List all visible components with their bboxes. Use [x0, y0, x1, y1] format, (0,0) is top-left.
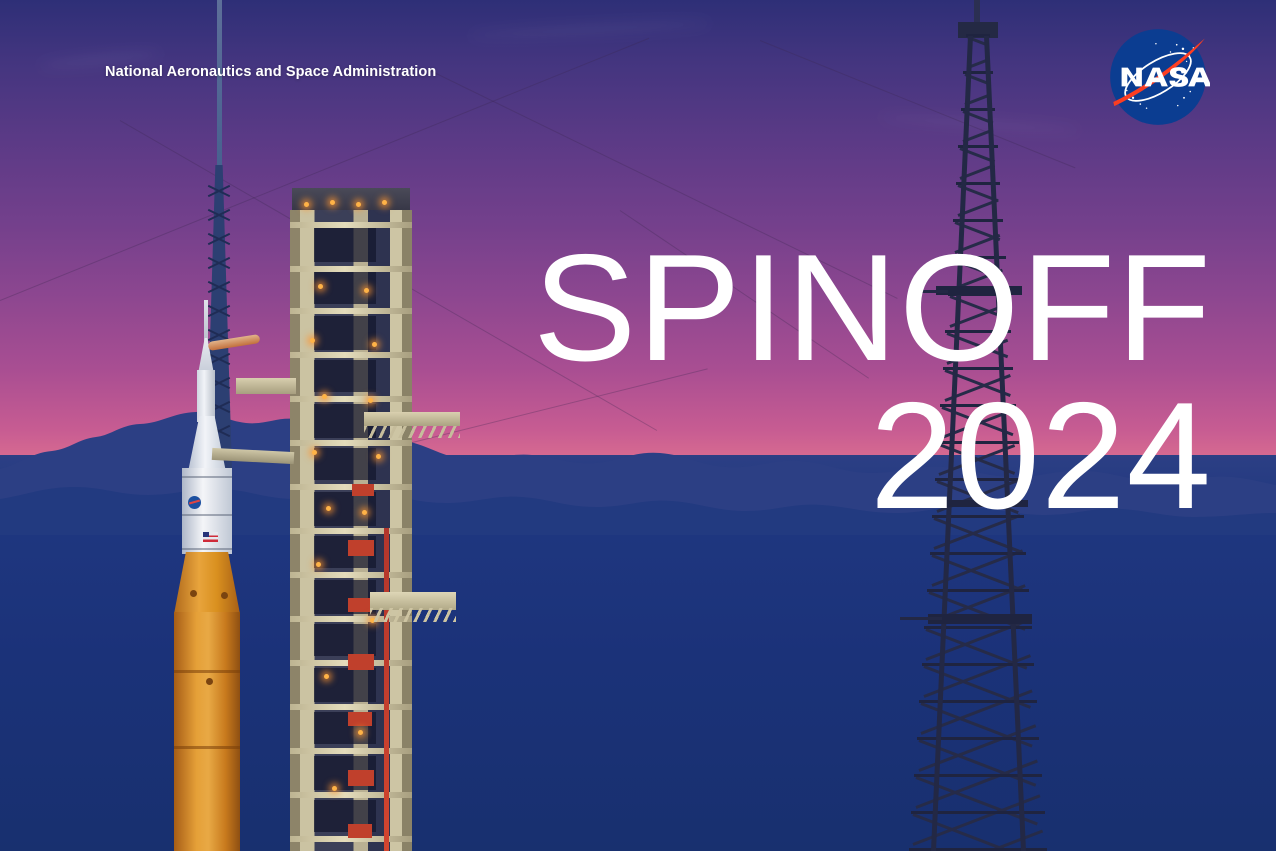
tower-worklight	[322, 394, 327, 399]
tower-red-equipment	[348, 598, 372, 612]
tower-worklight	[318, 284, 323, 289]
rocket-nasa-meatball	[188, 496, 201, 509]
tower-deck	[290, 704, 412, 710]
launch-abort-spire	[204, 300, 208, 342]
tower-platform	[928, 614, 1032, 624]
orion-capsule	[188, 416, 226, 472]
tower-deck	[290, 440, 412, 446]
hull-band	[182, 548, 232, 550]
tower-worklight	[304, 202, 309, 207]
tower-stairway	[384, 528, 389, 851]
tower-worklight	[324, 674, 329, 679]
nasa-logo-svg	[1106, 25, 1210, 129]
tower-deck	[290, 484, 412, 490]
tank-ring	[174, 670, 240, 673]
core-stage-taper	[174, 552, 240, 614]
tower-catwalk-upper-truss	[364, 426, 460, 438]
tower-worklight	[362, 510, 367, 515]
tower-deck	[290, 396, 412, 402]
tower-interior-cell	[314, 668, 376, 702]
cover-title-block: SPINOFF 2024	[500, 236, 1212, 532]
tower-boom	[900, 617, 942, 620]
umbilical-arm-upper	[236, 378, 296, 394]
tower-interior-cell	[314, 624, 376, 656]
tower-red-equipment	[348, 824, 372, 838]
tower-red-equipment	[348, 712, 372, 726]
tower-interior-cell	[314, 448, 376, 480]
tank-ring	[174, 746, 240, 749]
nasa-meatball-logo	[1106, 25, 1210, 129]
tower-worklight	[310, 338, 315, 343]
tower-deck	[290, 572, 412, 578]
tower-catwalk-upper	[364, 412, 460, 426]
tower-worklight	[376, 454, 381, 459]
tower-deck	[290, 792, 412, 798]
tank-port	[221, 592, 228, 599]
launch-abort-tower	[197, 370, 215, 422]
tower-worklight	[316, 562, 321, 567]
tower-worklight	[364, 288, 369, 293]
tower-deck	[290, 748, 412, 754]
tower-worklight	[330, 200, 335, 205]
tower-catwalk-lower-truss	[370, 608, 456, 622]
mast-spire	[217, 0, 222, 170]
tower-horizontal	[914, 774, 1042, 777]
tower-red-equipment	[348, 654, 374, 670]
tower-red-equipment	[348, 770, 374, 786]
tower-red-equipment	[352, 484, 374, 496]
tower-worklight	[326, 506, 331, 511]
tower-deck	[290, 308, 412, 314]
tower-deck	[290, 528, 412, 534]
hull-band	[182, 476, 232, 478]
nasa-spinoff-2024-cover: NASA National Aeronautics and Space Admi…	[0, 0, 1276, 851]
hull-band	[182, 514, 232, 516]
us-flag-decal	[203, 532, 218, 542]
tower-deck	[290, 352, 412, 358]
tower-interior-cell	[314, 316, 376, 350]
tower-horizontal	[911, 811, 1044, 814]
cover-year: 2024	[500, 380, 1212, 532]
tank-port	[190, 590, 197, 597]
tower-worklight	[358, 730, 363, 735]
tank-port	[206, 678, 213, 685]
page-title: SPINOFF	[486, 236, 1212, 380]
core-stage-tank	[174, 612, 240, 851]
tower-worklight	[312, 450, 317, 455]
tower-interior-cell	[314, 360, 376, 392]
tower-worklight	[372, 342, 377, 347]
mobile-launcher-tower	[252, 188, 442, 851]
agency-name-text: National Aeronautics and Space Administr…	[105, 64, 436, 80]
cloud-wisp	[470, 19, 710, 41]
tower-interior-cell	[314, 228, 376, 262]
tower-worklight	[356, 202, 361, 207]
tower-interior-cell	[314, 492, 376, 526]
tower-worklight	[368, 398, 373, 403]
tower-worklight	[332, 786, 337, 791]
tower-worklight	[382, 200, 387, 205]
tower-red-equipment	[348, 540, 374, 556]
